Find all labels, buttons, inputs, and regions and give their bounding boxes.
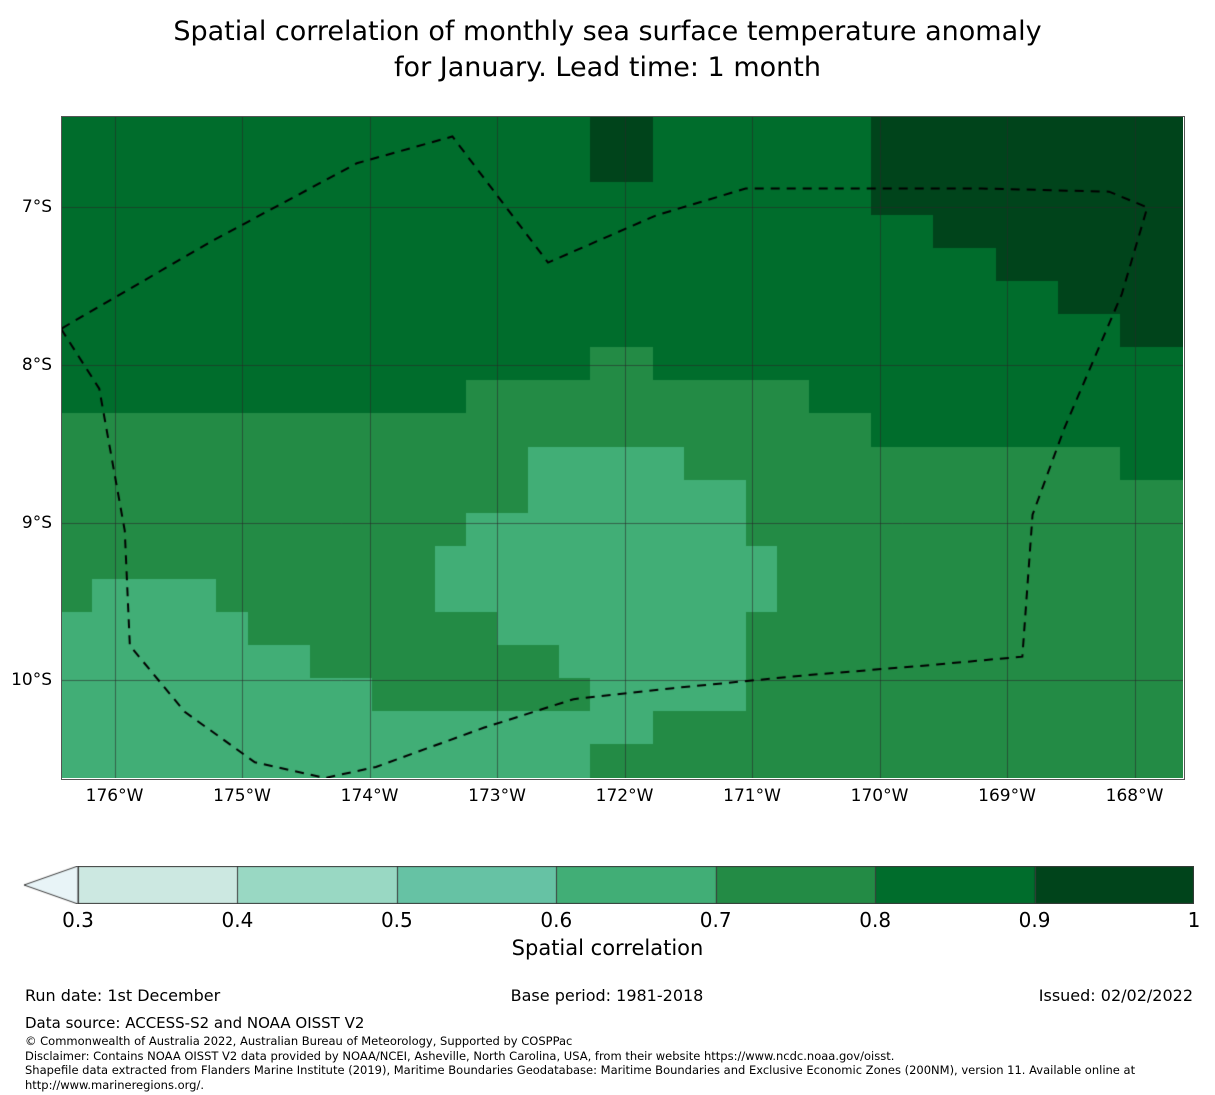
disclaimer-line-1: Disclaimer: Contains NOAA OISST V2 data …: [25, 1049, 1215, 1064]
disclaimer-line-0: © Commonwealth of Australia 2022, Austra…: [25, 1034, 1215, 1049]
x-tick-8: 168°W: [1106, 786, 1164, 806]
colorbar-tick-7: 1: [1188, 908, 1201, 932]
data-source-text: Data source: ACCESS-S2 and NOAA OISST V2: [25, 1014, 364, 1032]
colorbar-tick-5: 0.8: [859, 908, 891, 932]
base-period-text: Base period: 1981-2018: [511, 986, 704, 1005]
colorbar[interactable]: 0.30.40.50.60.70.80.91 Spatial correlati…: [0, 866, 1215, 966]
correlation-heatmap-canvas: [61, 116, 1183, 778]
x-tick-5: 171°W: [723, 786, 781, 806]
y-tick-2: 9°S: [22, 513, 52, 533]
x-tick-7: 169°W: [978, 786, 1036, 806]
y-tick-0: 7°S: [22, 197, 52, 217]
colorbar-tick-3: 0.6: [540, 908, 572, 932]
colorbar-label: Spatial correlation: [0, 936, 1215, 960]
colorbar-tick-4: 0.7: [700, 908, 732, 932]
disclaimer-line-2: Shapefile data extracted from Flanders M…: [25, 1063, 1215, 1078]
y-tick-1: 8°S: [22, 355, 52, 375]
issued-date-text: Issued: 02/02/2022: [1039, 986, 1193, 1005]
x-tick-1: 175°W: [213, 786, 271, 806]
colorbar-tick-2: 0.5: [381, 908, 413, 932]
colorbar-tick-6: 0.9: [1019, 908, 1051, 932]
x-tick-4: 172°W: [596, 786, 654, 806]
x-tick-3: 173°W: [468, 786, 526, 806]
colorbar-tick-0: 0.3: [62, 908, 94, 932]
run-date-text: Run date: 1st December: [25, 986, 220, 1005]
page-title: Spatial correlation of monthly sea surfa…: [0, 14, 1215, 86]
colorbar-canvas: [22, 866, 1194, 904]
colorbar-tick-1: 0.4: [222, 908, 254, 932]
disclaimer-text: © Commonwealth of Australia 2022, Austra…: [25, 1034, 1215, 1092]
map-plot-area[interactable]: [61, 116, 1183, 778]
x-tick-0: 176°W: [86, 786, 144, 806]
x-tick-2: 174°W: [341, 786, 399, 806]
y-tick-3: 10°S: [11, 670, 52, 690]
x-tick-6: 170°W: [851, 786, 909, 806]
disclaimer-line-3: http://www.marineregions.org/.: [25, 1078, 1215, 1093]
